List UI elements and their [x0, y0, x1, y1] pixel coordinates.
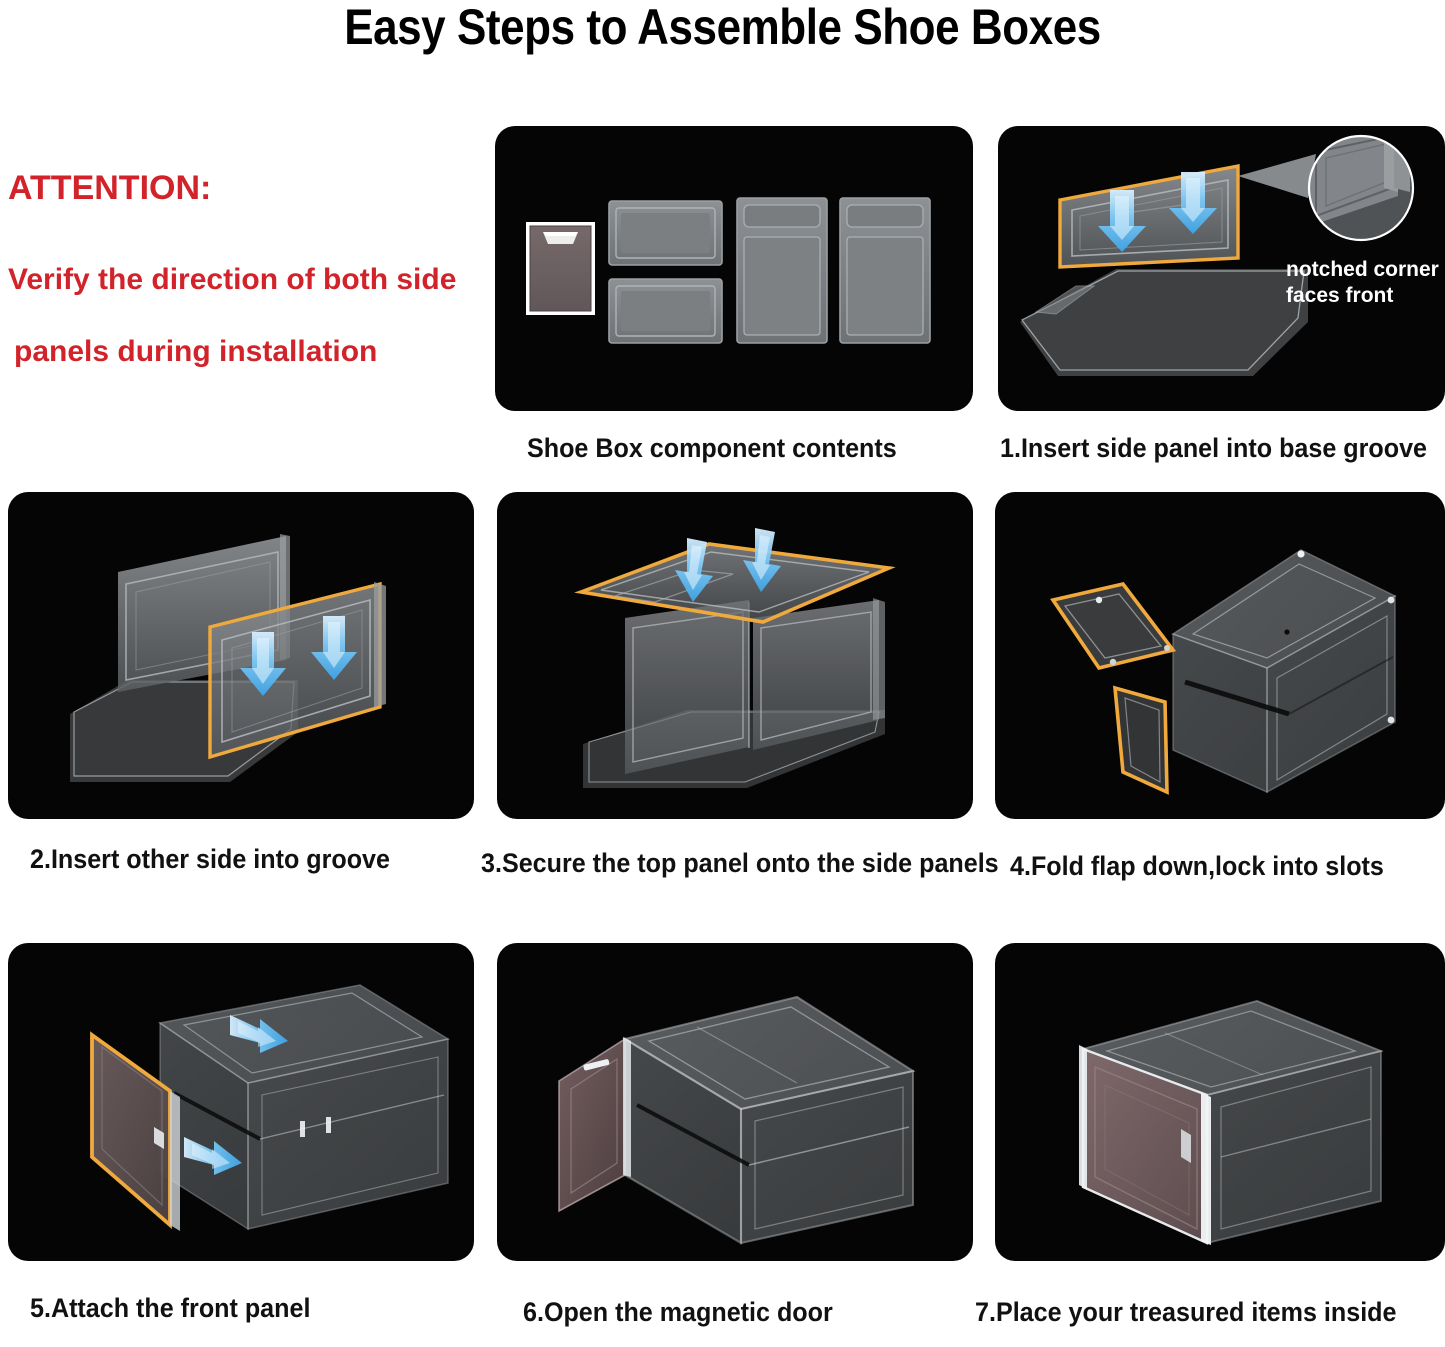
side-wall-left	[625, 600, 749, 774]
card-step-2	[8, 492, 474, 819]
caption-step-7: 7.Place your treasured items inside	[975, 1296, 1396, 1328]
card-step-5	[8, 943, 474, 1261]
callout-line-2: faces front	[1286, 284, 1393, 307]
part-top-panel	[609, 201, 722, 265]
page-title: Easy Steps to Assemble Shoe Boxes	[87, 0, 1359, 56]
attention-line-1: Verify the direction of both side	[8, 262, 488, 298]
side-panel-highlighted	[1060, 166, 1238, 267]
caption-step-3: 3.Secure the top panel onto the side pan…	[481, 847, 999, 879]
step-1-illustration: notched corner faces front	[998, 126, 1445, 411]
assembled-box	[1173, 550, 1395, 792]
callout-leader	[1238, 154, 1316, 198]
step-5-illustration	[8, 943, 474, 1261]
base-plate	[1020, 269, 1308, 376]
notched-corner-magnifier	[1298, 128, 1413, 240]
assembled-box	[160, 985, 448, 1229]
part-base-panel	[609, 279, 722, 343]
caption-step-2: 2.Insert other side into groove	[30, 843, 390, 875]
card-step-6	[497, 943, 973, 1261]
attention-line-2: panels during installation	[8, 334, 488, 370]
caption-step-6: 6.Open the magnetic door	[523, 1296, 833, 1328]
caption-step-5: 5.Attach the front panel	[30, 1292, 310, 1324]
flap-upper-highlighted	[1053, 584, 1173, 668]
caption-step-1: 1.Insert side panel into base groove	[1000, 432, 1427, 464]
finished-box	[1079, 1001, 1381, 1245]
step-7-illustration	[995, 943, 1445, 1261]
callout-line-1: notched corner	[1286, 258, 1439, 281]
card-step-4	[995, 492, 1445, 819]
instruction-sheet: Easy Steps to Assemble Shoe Boxes ATTENT…	[0, 0, 1445, 1347]
part-front-door-panel	[526, 222, 595, 315]
caption-components: Shoe Box component contents	[527, 432, 897, 464]
card-step-1: notched corner faces front	[998, 126, 1445, 411]
flap-lower-highlighted	[1115, 688, 1167, 792]
step-2-illustration	[8, 492, 474, 819]
card-components	[495, 126, 973, 411]
step-3-illustration	[497, 492, 973, 819]
caption-step-4: 4.Fold flap down,lock into slots	[1010, 850, 1384, 882]
card-step-3	[497, 492, 973, 819]
part-side-panel-right	[840, 198, 930, 343]
assembled-box	[625, 997, 913, 1243]
step-4-illustration	[995, 492, 1445, 819]
step-6-illustration	[497, 943, 973, 1261]
part-side-panel-left	[737, 198, 827, 343]
magnetic-door-open	[559, 1037, 631, 1211]
components-illustration	[495, 126, 973, 411]
attention-heading: ATTENTION:	[8, 168, 488, 208]
attention-block: ATTENTION: Verify the direction of both …	[8, 168, 488, 370]
card-step-7	[995, 943, 1445, 1261]
